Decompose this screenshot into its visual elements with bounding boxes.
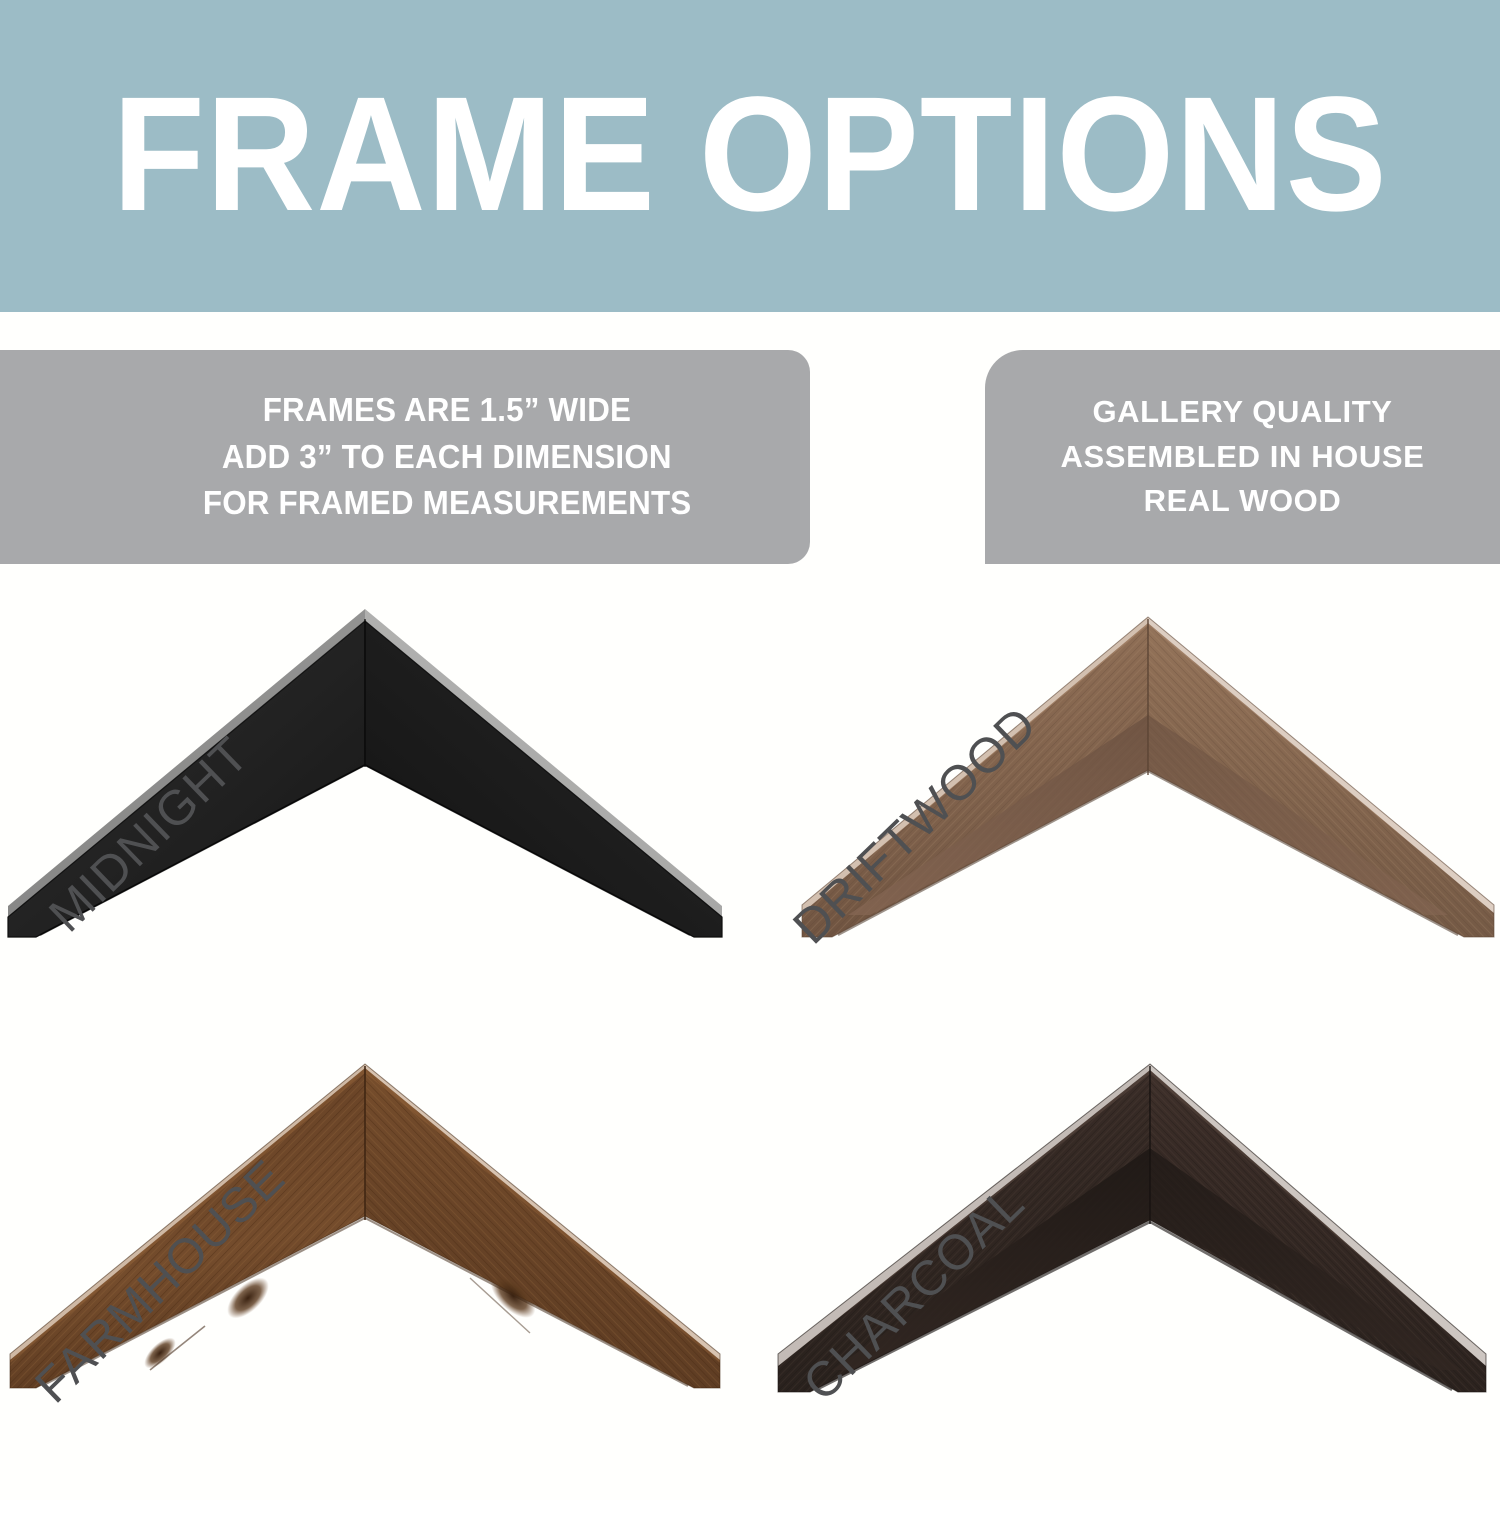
driftwood-frame-corner-image <box>750 595 1500 1060</box>
page-title: FRAME OPTIONS <box>53 0 1448 312</box>
measurements-line-2: ADD 3” TO EACH DIMENSION <box>222 434 672 481</box>
midnight-frame-corner-image <box>0 595 750 1060</box>
quality-line-2: ASSEMBLED IN HOUSE <box>1061 435 1425 480</box>
frame-swatch-farmhouse[interactable]: FARMHOUSE <box>0 1048 750 1513</box>
frame-swatch-charcoal[interactable]: CHARCOAL <box>750 1048 1500 1513</box>
frame-options-page: FRAME OPTIONS FRAMES ARE 1.5” WIDE ADD 3… <box>0 0 1500 1500</box>
frame-swatch-driftwood[interactable]: DRIFTWOOD <box>750 595 1500 1060</box>
header-banner: FRAME OPTIONS <box>0 0 1500 312</box>
measurements-line-1: FRAMES ARE 1.5” WIDE <box>263 387 631 434</box>
measurements-line-3: FOR FRAMED MEASUREMENTS <box>203 480 692 527</box>
frame-swatch-midnight[interactable]: MIDNIGHT <box>0 595 750 1060</box>
quality-line-1: GALLERY QUALITY <box>1092 390 1392 435</box>
quality-info-box: GALLERY QUALITY ASSEMBLED IN HOUSE REAL … <box>985 350 1500 564</box>
charcoal-frame-corner-image <box>750 1048 1500 1513</box>
farmhouse-frame-corner-image <box>0 1048 750 1513</box>
measurements-info-box: FRAMES ARE 1.5” WIDE ADD 3” TO EACH DIME… <box>0 350 810 564</box>
quality-line-3: REAL WOOD <box>1144 479 1342 524</box>
